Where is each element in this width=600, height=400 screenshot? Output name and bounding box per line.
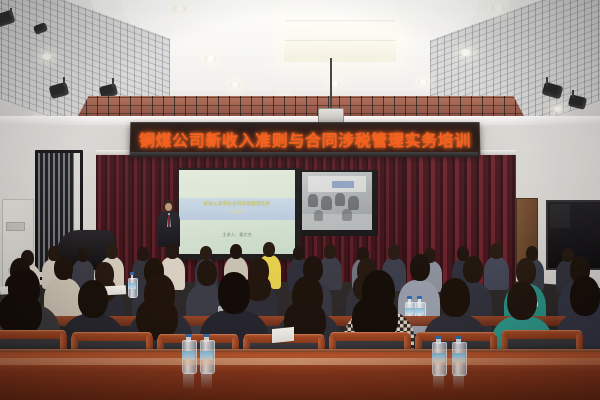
water-bottle	[200, 334, 213, 372]
slide-presenter: 主讲人：童文杰	[183, 232, 291, 238]
slide-title: 新收入准则与合同涉税管理实务	[183, 201, 291, 207]
presenter-tie	[168, 215, 170, 227]
led-banner: 铜煤公司新收入准则与合同涉税管理实务培训	[130, 122, 481, 155]
projector-cable	[330, 58, 332, 110]
bottle-reflection	[183, 372, 194, 390]
downlight-icon	[460, 49, 472, 56]
water-bottle	[432, 336, 445, 374]
slide-subtitle: 培训课件	[183, 209, 291, 215]
led-banner-housing	[130, 152, 478, 157]
video-feed-screen	[302, 172, 372, 230]
photo-scene: 新收入准则与合同涉税管理实务 培训课件 主讲人：童文杰 铜煤公司新收入准则与合同…	[0, 0, 600, 400]
name-card	[272, 327, 294, 343]
presenter-arm	[173, 220, 180, 234]
downlight-icon	[173, 5, 186, 13]
presenter-face	[165, 203, 172, 211]
downlight-icon	[205, 55, 216, 62]
downlight-icon	[418, 79, 428, 85]
downlight-icon	[41, 53, 52, 60]
ceiling-light-panel	[284, 1, 396, 62]
water-bottle	[182, 334, 195, 372]
bottle-reflection	[433, 374, 444, 390]
bottle-reflection	[453, 374, 464, 390]
water-bottle	[452, 336, 465, 374]
monitor-glare	[550, 204, 570, 228]
downlight-icon	[553, 106, 563, 112]
bottle-reflection	[201, 372, 212, 390]
led-banner-text: 铜煤公司新收入准则与合同涉税管理实务培训	[139, 127, 472, 151]
downlight-icon	[230, 82, 240, 88]
downlight-icon	[492, 4, 505, 12]
table-sheen	[0, 358, 600, 365]
air-conditioner-vent	[6, 222, 25, 231]
